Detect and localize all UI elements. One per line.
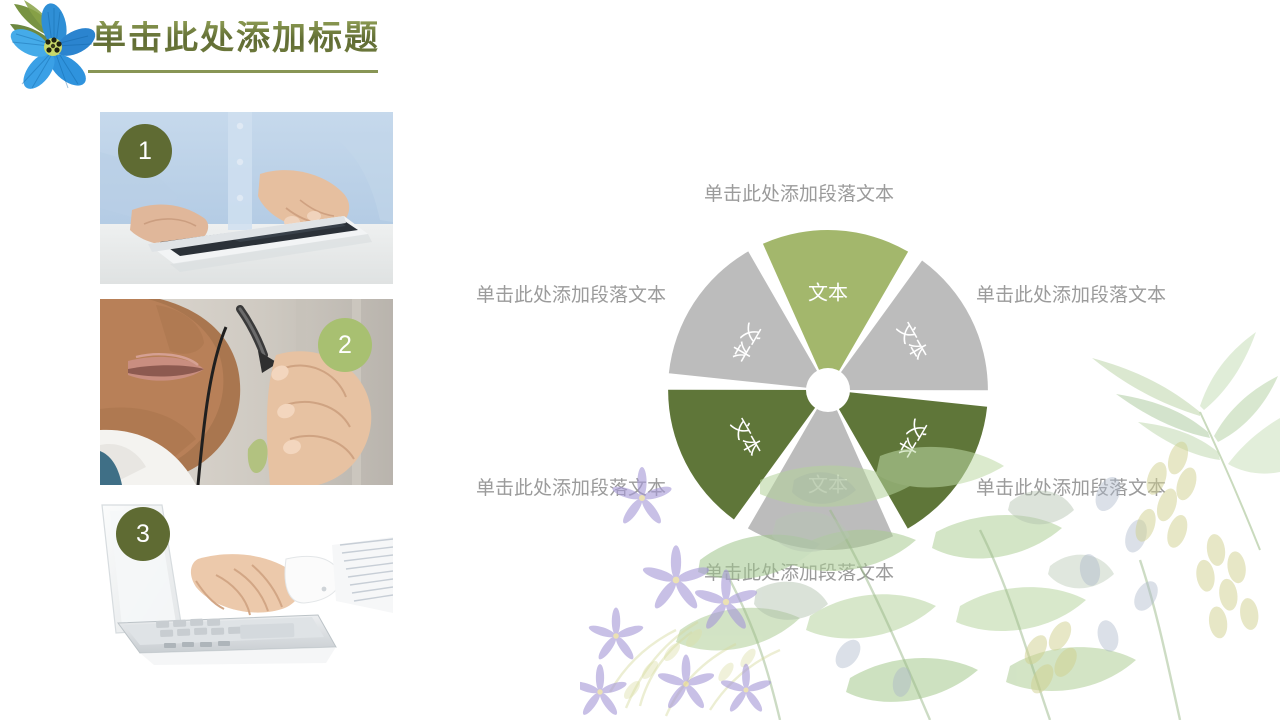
pie-center-hub: [806, 368, 850, 412]
photo-badge-2: 2: [318, 318, 372, 372]
photo-badge-2-number: 2: [338, 333, 352, 358]
pie-callout-right-lower: 单击此处添加段落文本: [976, 479, 1166, 498]
pie-chart-svg: 文本 文本 文本 文本 文本 文本: [660, 222, 996, 558]
title-underline: [88, 70, 378, 73]
watercolor-branch-right-decor: [1050, 300, 1280, 560]
pie-chart: 文本 文本 文本 文本 文本 文本: [660, 222, 996, 558]
photo-badge-3: 3: [116, 507, 170, 561]
pie-callout-bottom: 单击此处添加段落文本: [704, 564, 894, 583]
pie-callout-left-upper: 单击此处添加段落文本: [476, 286, 666, 305]
pie-slice-label-3: 文本: [808, 473, 848, 496]
blue-watercolor-flower-icon: [8, 0, 100, 94]
pie-callout-left-lower: 单击此处添加段落文本: [476, 479, 666, 498]
slide: 单击此处添加标题: [0, 0, 1280, 720]
pie-callout-right-upper: 单击此处添加段落文本: [976, 286, 1166, 305]
photo-badge-1: 1: [118, 124, 172, 178]
pie-slice-label-0: 文本: [808, 281, 848, 304]
pie-callout-top: 单击此处添加段落文本: [704, 185, 894, 204]
slide-header: 单击此处添加标题: [0, 0, 1280, 96]
photo-badge-3-number: 3: [136, 522, 150, 547]
photo-badge-1-number: 1: [138, 139, 152, 164]
page-title: 单击此处添加标题: [92, 21, 380, 55]
